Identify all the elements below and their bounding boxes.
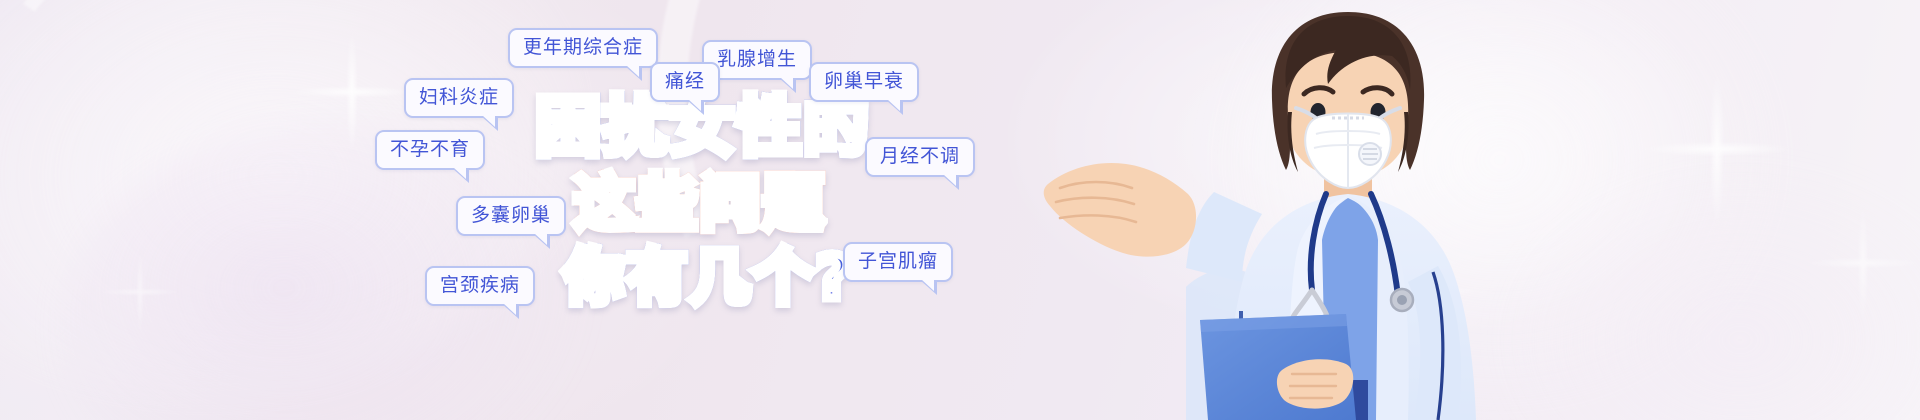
bubble-tail-inner-icon [688,99,701,111]
symptom-bubble-label: 乳腺增生 [717,49,797,70]
headline-block: 困扰女性的 这些问题 你有几个? [536,96,1096,308]
symptom-bubble[interactable]: 宫颈疾病 [425,266,535,306]
headline-line-3-text: 你有几个? [564,243,854,313]
symptom-bubble-label: 妇科炎症 [419,87,499,108]
headline-line-3: 你有几个? [564,248,1096,308]
headline-line-2-text: 这些问题 [574,169,826,239]
bubble-tail-inner-icon [780,77,793,89]
sparkle-icon [1808,208,1918,318]
bubble-tail-inner-icon [534,233,547,245]
symptom-bubble-label: 痛经 [665,71,705,92]
sparkle-icon [100,252,180,332]
symptom-bubble[interactable]: 不孕不育 [375,130,485,170]
bubble-tail-inner-icon [453,167,466,179]
headline-line-1: 困扰女性的 [536,96,1096,160]
bubble-tail-inner-icon [921,279,934,291]
bubble-tail-inner-icon [887,99,900,111]
symptom-bubble-label: 不孕不育 [390,139,470,160]
symptom-bubble-label: 更年期综合症 [523,37,643,58]
symptom-bubble[interactable]: 更年期综合症 [508,28,658,68]
bubble-tail-inner-icon [626,65,639,77]
female-doctor-illustration [1186,8,1516,420]
hand-left [1277,359,1353,408]
symptom-bubble-label: 子宫肌瘤 [858,251,938,272]
symptom-bubble[interactable]: 多囊卵巢 [456,196,566,236]
bubble-tail-inner-icon [482,115,495,127]
symptom-bubble[interactable]: 卵巢早衰 [809,62,919,102]
stethoscope-chestpiece-center [1397,295,1407,305]
symptom-bubble[interactable]: 子宫肌瘤 [843,242,953,282]
symptom-bubble-label: 月经不调 [880,146,960,167]
sparkle-icon [1642,74,1792,224]
symptom-bubble[interactable]: 痛经 [650,62,720,102]
bubble-tail-inner-icon [943,174,956,186]
promo-banner: 困扰女性的 这些问题 你有几个? 更年期综合症乳腺增生痛经卵巢早衰妇科炎症不孕不… [0,0,1920,420]
symptom-bubble[interactable]: 妇科炎症 [404,78,514,118]
bg-glow-far-right [1480,150,1920,420]
symptom-bubble-label: 宫颈疾病 [440,275,520,296]
symptom-bubble[interactable]: 月经不调 [865,137,975,177]
symptom-bubble-label: 卵巢早衰 [824,71,904,92]
headline-line-2: 这些问题 [574,174,1096,234]
bubble-tail-inner-icon [503,303,516,315]
symptom-bubble-label: 多囊卵巢 [471,205,551,226]
